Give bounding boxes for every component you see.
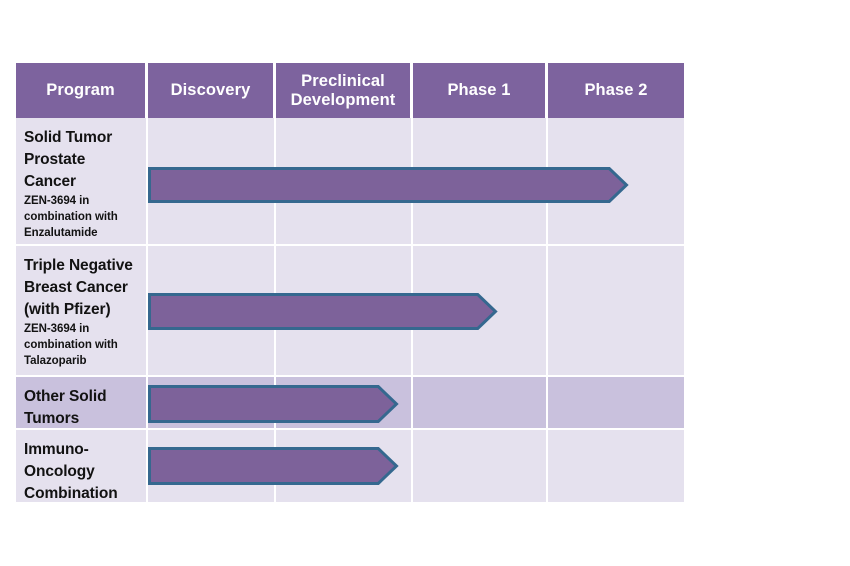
cell-preclinical: [276, 377, 413, 428]
cell-discovery: [148, 430, 276, 502]
cell-discovery: [148, 377, 276, 428]
table-row: Other Solid Tumors: [16, 377, 684, 430]
table-row: Immuno-Oncology Combination: [16, 430, 684, 502]
cell-preclinical: [276, 246, 413, 375]
column-header-discovery-label: Discovery: [171, 81, 251, 99]
program-cell-solid-tumor-prostate-cancer: Solid Tumor Prostate Cancer ZEN-3694 in …: [16, 118, 148, 244]
column-header-preclinical-label: Preclinical Development: [291, 72, 396, 109]
cell-phase2: [548, 118, 684, 244]
column-header-phase1-label: Phase 1: [447, 81, 510, 99]
column-header-discovery: Discovery: [148, 63, 276, 118]
program-title: Solid Tumor Prostate Cancer: [24, 127, 139, 193]
cell-phase2: [548, 246, 684, 375]
program-subtitle: ZEN-3694 in combination with Talazoparib: [24, 322, 139, 370]
cell-phase1: [413, 246, 548, 375]
cell-phase2: [548, 430, 684, 502]
column-header-phase2-label: Phase 2: [584, 81, 647, 99]
program-cell-immuno-oncology-combination: Immuno-Oncology Combination: [16, 430, 148, 502]
table-header-row: Program Discovery Preclinical Developmen…: [16, 63, 684, 118]
column-header-preclinical-line2: Development: [291, 91, 396, 109]
column-header-program: Program: [16, 63, 148, 118]
column-header-phase1: Phase 1: [413, 63, 548, 118]
cell-phase2: [548, 377, 684, 428]
column-header-program-label: Program: [46, 81, 115, 99]
table-row: Solid Tumor Prostate Cancer ZEN-3694 in …: [16, 118, 684, 246]
table-body: Solid Tumor Prostate Cancer ZEN-3694 in …: [16, 118, 684, 502]
program-subtitle: ZEN-3694 in combination with Enzalutamid…: [24, 194, 139, 242]
program-title: Other Solid Tumors: [24, 386, 139, 428]
column-header-phase2: Phase 2: [548, 63, 684, 118]
program-cell-triple-negative-breast-cancer: Triple Negative Breast Cancer (with Pfiz…: [16, 246, 148, 375]
program-cell-other-solid-tumors: Other Solid Tumors: [16, 377, 148, 428]
cell-phase1: [413, 118, 548, 244]
cell-phase1: [413, 377, 548, 428]
cell-discovery: [148, 118, 276, 244]
cell-preclinical: [276, 430, 413, 502]
column-header-preclinical-line1: Preclinical: [301, 72, 385, 90]
pipeline-table: Program Discovery Preclinical Developmen…: [16, 63, 684, 502]
column-header-preclinical: Preclinical Development: [276, 63, 413, 118]
cell-discovery: [148, 246, 276, 375]
program-title: Triple Negative Breast Cancer (with Pfiz…: [24, 255, 139, 321]
cell-preclinical: [276, 118, 413, 244]
table-row: Triple Negative Breast Cancer (with Pfiz…: [16, 246, 684, 377]
program-title: Immuno-Oncology Combination: [24, 439, 139, 502]
cell-phase1: [413, 430, 548, 502]
